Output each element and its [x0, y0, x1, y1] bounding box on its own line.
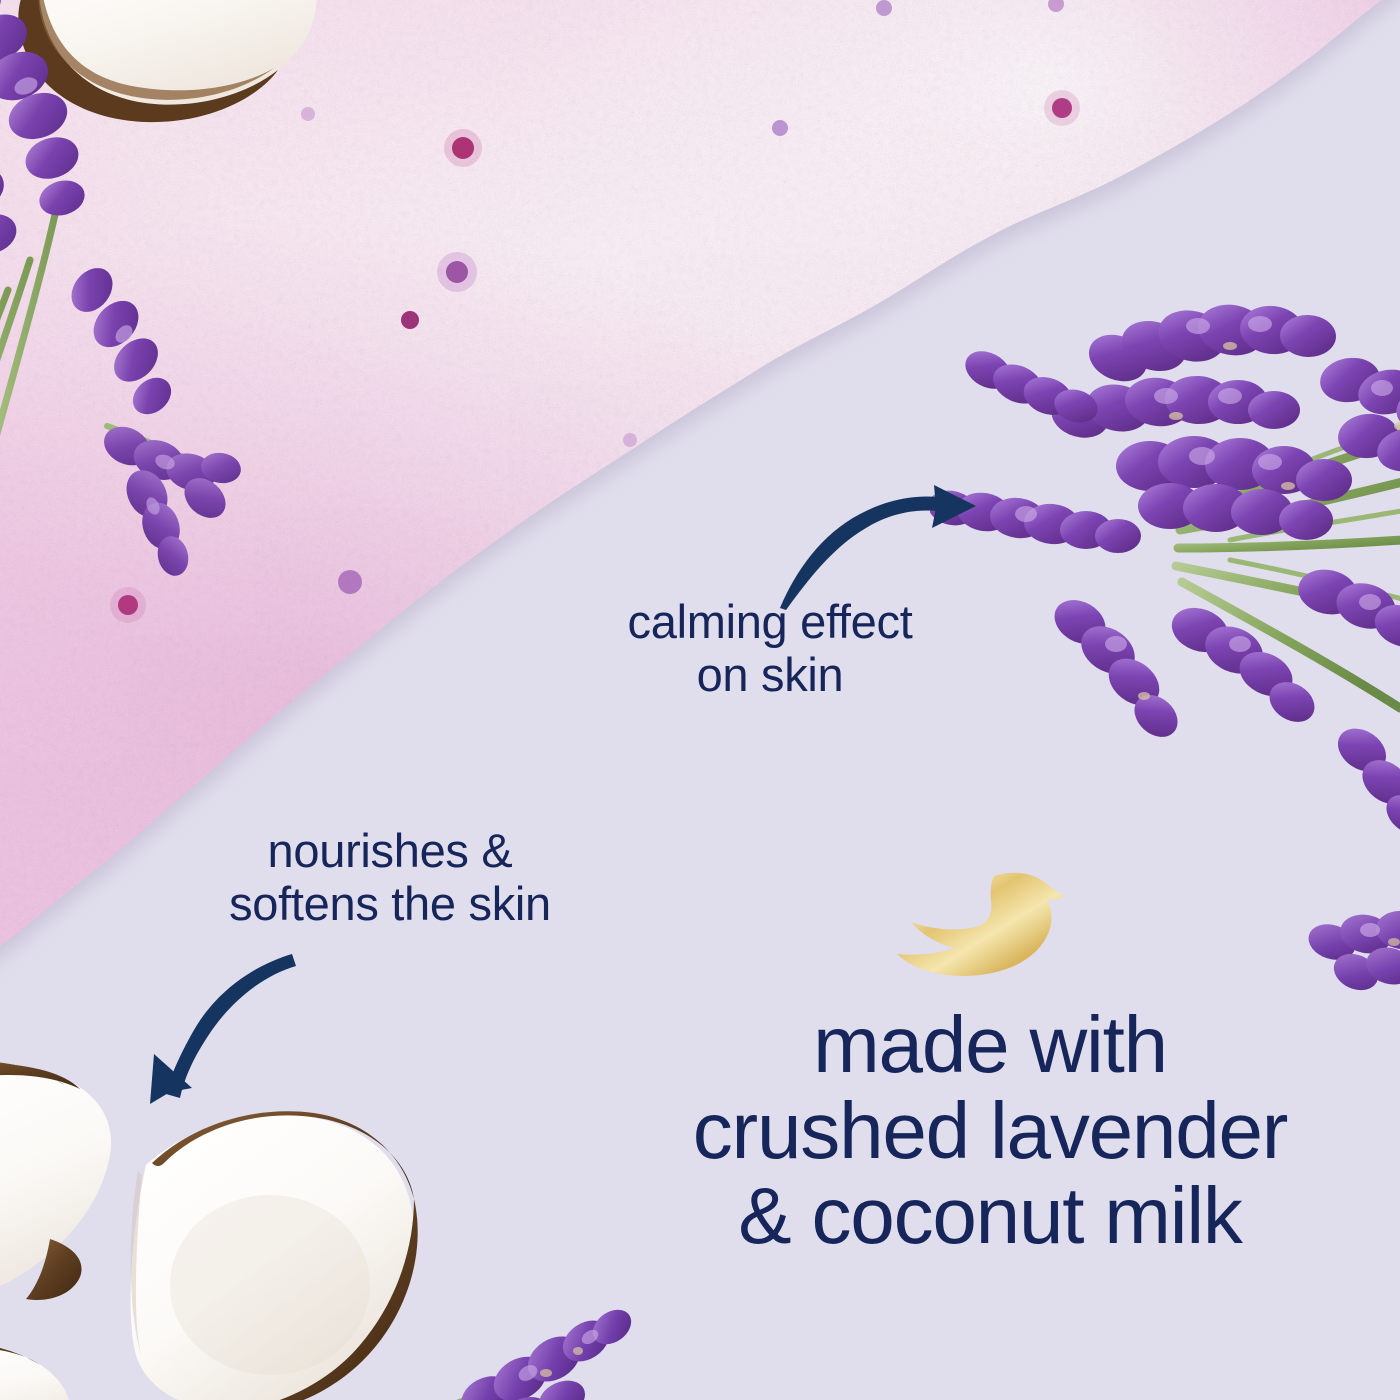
product-marketing-banner: calming effect on skin nourishes & softe…	[0, 0, 1400, 1400]
callout-calming-effect: calming effect on skin	[560, 596, 980, 701]
callout-nourishes-line-1: nourishes &	[170, 825, 610, 878]
lavender-sprig-mid-left	[55, 390, 315, 590]
headline-line-3: & coconut milk	[620, 1173, 1360, 1259]
headline-line-1: made with	[620, 1002, 1360, 1088]
lavender-bouquet-right	[930, 230, 1400, 830]
dove-bird-icon	[893, 866, 1071, 984]
lavender-sprig-bottom	[430, 1285, 680, 1400]
headline: made with crushed lavender & coconut mil…	[620, 1002, 1360, 1259]
coconut-pieces-bottom-left	[0, 1055, 470, 1400]
callout-nourishes-softens: nourishes & softens the skin	[170, 825, 610, 930]
callout-calming-line-2: on skin	[560, 649, 980, 702]
headline-line-2: crushed lavender	[620, 1088, 1360, 1174]
callout-nourishes-line-2: softens the skin	[170, 878, 610, 931]
callout-calming-line-1: calming effect	[560, 596, 980, 649]
